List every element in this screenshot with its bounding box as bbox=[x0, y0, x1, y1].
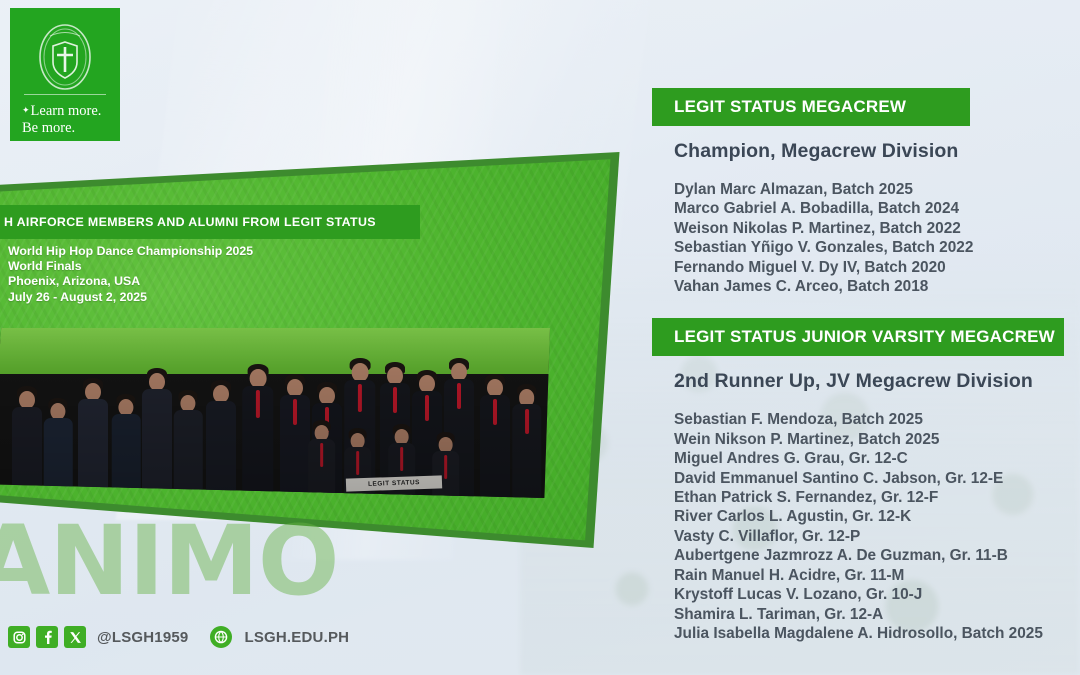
section-subtitle-megacrew: Champion, Megacrew Division bbox=[652, 140, 1064, 163]
list-item: Krystoff Lucas V. Lozano, Gr. 10-J bbox=[674, 585, 1064, 604]
list-item: Sebastian F. Mendoza, Batch 2025 bbox=[674, 410, 1064, 429]
list-item: Julia Isabella Magdalene A. Hidrosollo, … bbox=[674, 624, 1064, 643]
instagram-icon[interactable] bbox=[8, 626, 30, 648]
event-detail-line: Phoenix, Arizona, USA bbox=[8, 274, 253, 289]
event-detail-line: World Hip Hop Dance Championship 2025 bbox=[8, 244, 253, 259]
list-item: Ethan Patrick S. Fernandez, Gr. 12-F bbox=[674, 488, 1064, 507]
member-list-jv-megacrew: Sebastian F. Mendoza, Batch 2025 Wein Ni… bbox=[652, 410, 1064, 643]
animo-watermark: ANIMO bbox=[0, 513, 339, 609]
list-item: Sebastian Yñigo V. Gonzales, Batch 2022 bbox=[674, 238, 1064, 257]
event-detail-line: World Finals bbox=[8, 259, 253, 274]
tagline-line-2: Be more. bbox=[22, 120, 75, 136]
x-twitter-icon[interactable] bbox=[64, 626, 86, 648]
section-header-label: LEGIT STATUS JUNIOR VARSITY MEGACREW bbox=[652, 327, 1055, 347]
sparkle-icon: ✦ bbox=[22, 105, 30, 115]
social-footer: @LSGH1959 LSGH.EDU.PH bbox=[8, 622, 349, 652]
section-header-megacrew: LEGIT STATUS MEGACREW bbox=[652, 88, 970, 126]
results-column: LEGIT STATUS MEGACREW Champion, Megacrew… bbox=[652, 88, 1064, 665]
event-banner-title: H AIRFORCE MEMBERS AND ALUMNI FROM LEGIT… bbox=[0, 215, 376, 229]
list-item: Shamira L. Tariman, Gr. 12-A bbox=[674, 605, 1064, 624]
list-item: Wein Nikson P. Martinez, Batch 2025 bbox=[674, 430, 1064, 449]
school-crest-icon bbox=[34, 22, 96, 97]
photo-shade bbox=[0, 328, 550, 498]
slide-canvas: ✦Learn more. Be more. H AIRFORCE MEMBERS… bbox=[0, 0, 1080, 675]
list-item: Dylan Marc Almazan, Batch 2025 bbox=[674, 180, 1064, 199]
list-item: Marco Gabriel A. Bobadilla, Batch 2024 bbox=[674, 199, 1064, 218]
list-item: David Emmanuel Santino C. Jabson, Gr. 12… bbox=[674, 469, 1064, 488]
list-item: Aubertgene Jazmrozz A. De Guzman, Gr. 11… bbox=[674, 546, 1064, 565]
list-item: Miguel Andres G. Grau, Gr. 12-C bbox=[674, 449, 1064, 468]
social-handle: @LSGH1959 bbox=[97, 629, 188, 646]
event-details: World Hip Hop Dance Championship 2025 Wo… bbox=[8, 244, 253, 305]
team-photo: LEGIT STATUS bbox=[0, 328, 550, 498]
list-item: River Carlos L. Agustin, Gr. 12-K bbox=[674, 507, 1064, 526]
list-item: Fernando Miguel V. Dy IV, Batch 2020 bbox=[674, 258, 1064, 277]
member-list-megacrew: Dylan Marc Almazan, Batch 2025 Marco Gab… bbox=[652, 180, 1064, 296]
section-header-jv-megacrew: LEGIT STATUS JUNIOR VARSITY MEGACREW bbox=[652, 318, 1064, 356]
tagline-line-1: Learn more. bbox=[31, 103, 102, 119]
list-item: Vahan James C. Arceo, Batch 2018 bbox=[674, 277, 1064, 296]
list-item: Vasty C. Villaflor, Gr. 12-P bbox=[674, 527, 1064, 546]
list-item: Rain Manuel H. Acidre, Gr. 11-M bbox=[674, 566, 1064, 585]
website-url: LSGH.EDU.PH bbox=[244, 629, 349, 646]
brand-divider bbox=[24, 94, 106, 95]
brand-block: ✦Learn more. Be more. bbox=[10, 8, 120, 141]
globe-icon[interactable] bbox=[210, 626, 232, 648]
section-header-label: LEGIT STATUS MEGACREW bbox=[652, 97, 906, 117]
section-subtitle-jv-megacrew: 2nd Runner Up, JV Megacrew Division bbox=[652, 370, 1064, 393]
brand-tagline: ✦Learn more. Be more. bbox=[22, 103, 112, 136]
event-detail-line: July 26 - August 2, 2025 bbox=[8, 290, 253, 305]
list-item: Weison Nikolas P. Martinez, Batch 2022 bbox=[674, 219, 1064, 238]
event-banner-bar: H AIRFORCE MEMBERS AND ALUMNI FROM LEGIT… bbox=[0, 205, 420, 239]
facebook-icon[interactable] bbox=[36, 626, 58, 648]
